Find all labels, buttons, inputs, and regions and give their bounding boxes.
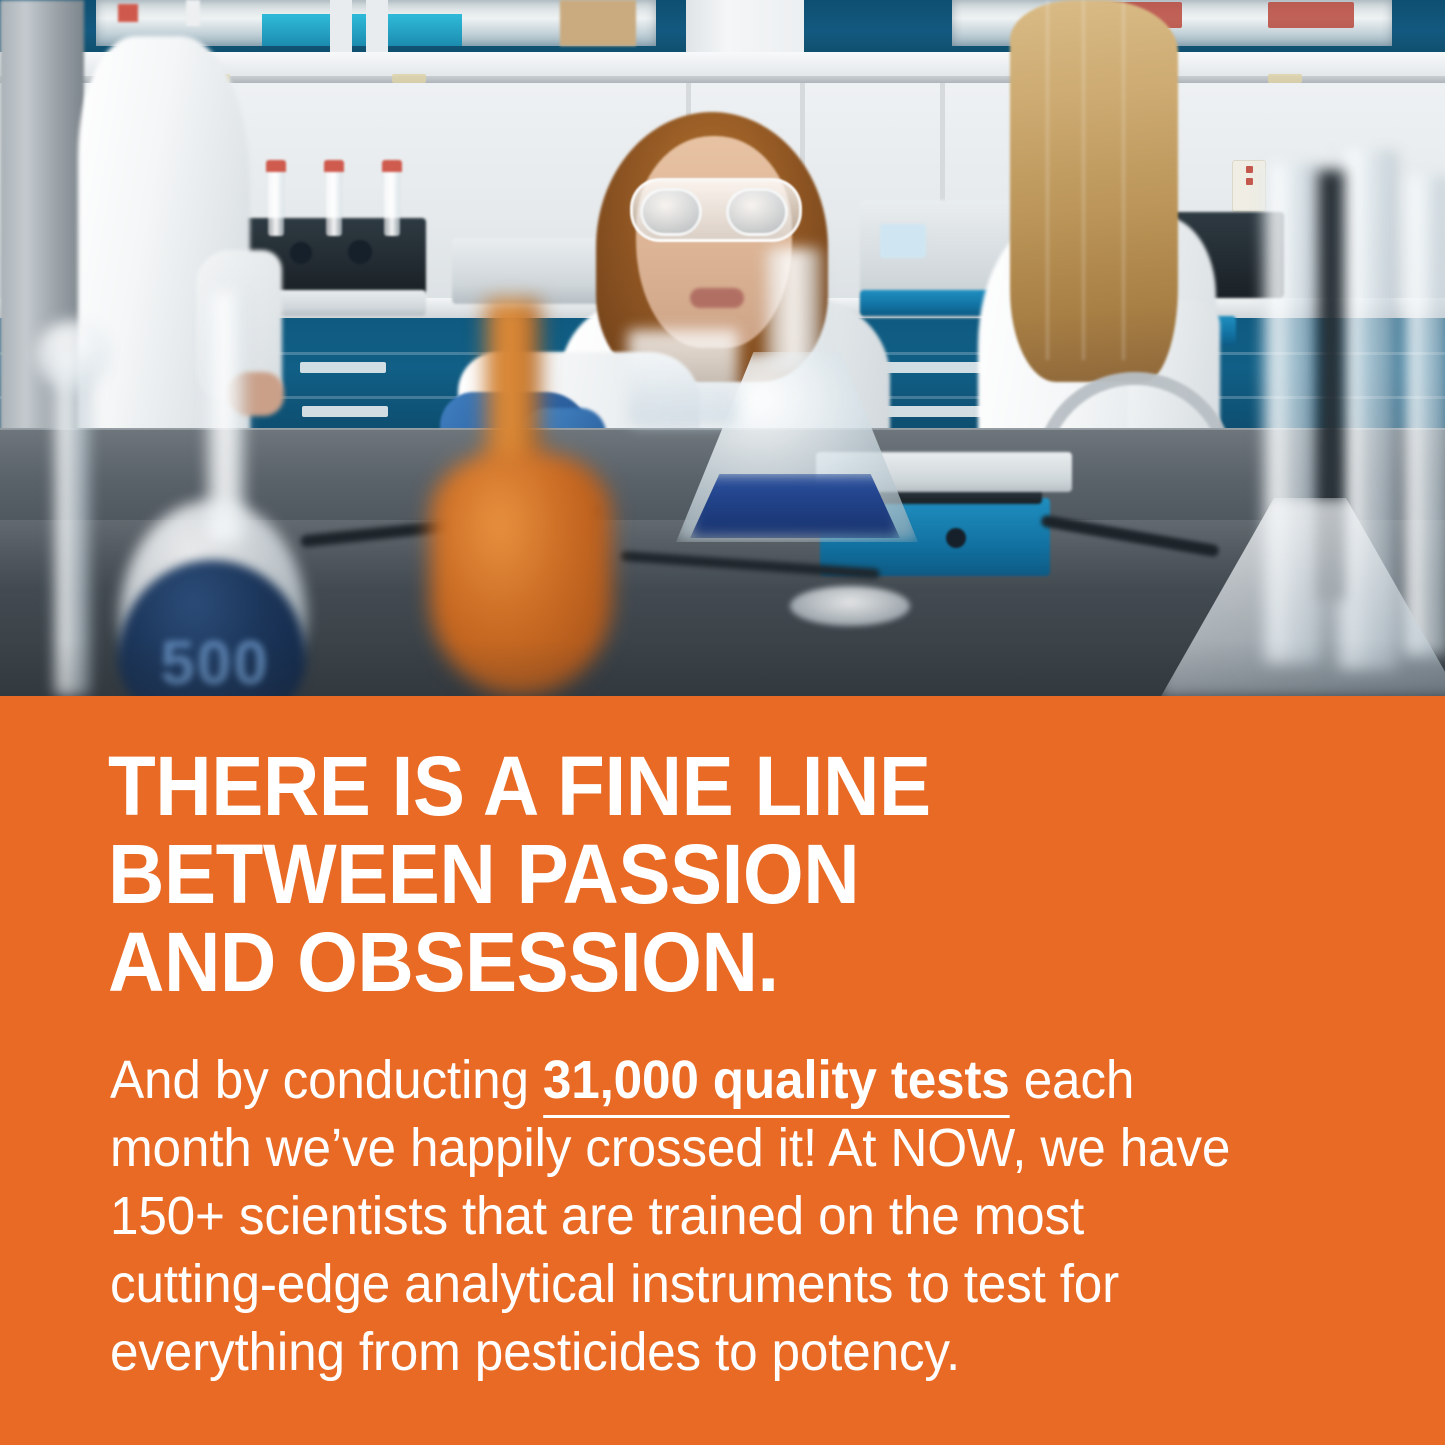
hair-strand-1: [1046, 0, 1049, 360]
cabinet-box-tan: [560, 0, 636, 46]
bench-instrument-knob: [946, 528, 966, 548]
beaker-center: [628, 330, 738, 426]
hair-strand-3: [1122, 0, 1125, 360]
cabinet-divider-2: [366, 0, 388, 52]
instrument-knob-2: [348, 240, 372, 264]
page-headline: THERE IS A FINE LINE BETWEEN PASSION AND…: [108, 742, 1252, 1006]
amber-flask-neck: [486, 300, 540, 476]
instrument-knob-1: [290, 242, 312, 264]
test-tube-cap-4: [382, 160, 402, 172]
body-lead-in: And by conducting: [110, 1050, 543, 1110]
test-tube-3: [326, 166, 342, 236]
goggle-lens-left: [640, 188, 702, 236]
graduated-cylinder-3: [1402, 176, 1445, 656]
cabinet-divider-1: [330, 0, 352, 52]
hair-strand-2: [1082, 0, 1085, 360]
cabinet-card-white: [186, 0, 200, 26]
petri-dish: [790, 586, 910, 626]
cabinet-red-box-2: [1268, 2, 1354, 28]
body-paragraph: And by conducting 31,000 quality tests e…: [110, 1046, 1264, 1386]
promo-card: 500 THERE IS A FINE LINE BETWEEN PASSION…: [0, 0, 1445, 1445]
goggle-lens-right: [726, 188, 788, 236]
shelf-light-3: [1268, 74, 1302, 83]
test-tube-cap-3: [324, 160, 344, 172]
bench-drawer-handle-3: [302, 406, 388, 417]
scientist-center-mouth: [690, 288, 744, 308]
laboratory-scientists-photo: 500: [0, 0, 1445, 696]
wall-socket-right: [1232, 160, 1266, 212]
test-tube-2: [268, 166, 284, 236]
instrument-right-screen: [880, 224, 926, 258]
pipette-bulb: [36, 320, 110, 390]
erlenmeyer-neck: [766, 248, 822, 368]
test-tube-4: [384, 166, 400, 236]
cabinet-card-red: [118, 4, 138, 22]
quality-tests-emphasis: 31,000 quality tests: [543, 1050, 1010, 1118]
scientist-right-hair: [1010, 0, 1178, 382]
bench-drawer-handle-2: [300, 362, 386, 373]
shelf-light-2: [392, 74, 426, 83]
test-tube-cap-2: [266, 160, 286, 172]
photo-bottom-vignette: [0, 640, 1445, 696]
cabinet-teal-insert: [262, 14, 462, 46]
erlenmeyer-blue-liquid: [690, 474, 900, 538]
